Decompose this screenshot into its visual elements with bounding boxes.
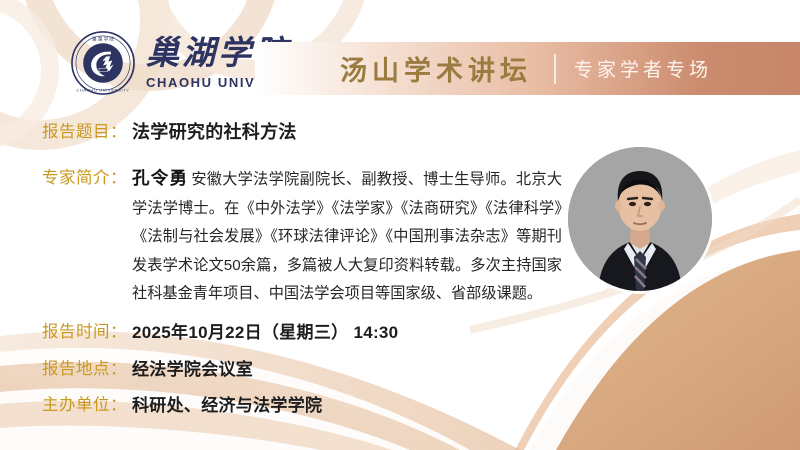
speaker-bio-text: 孔令勇安徽大学法学院副院长、副教授、博士生导师。北京大学法学博士。在《中外法学》… [132,164,562,309]
poster-header: 巢 湖 学 院 CHAOHU UNIVERSITY 巢湖学院 CHAOHU UN… [0,0,800,108]
report-title-label: 报告题目： [42,118,127,142]
speaker-portrait [568,147,712,291]
report-host-label: 主办单位： [42,391,127,415]
svg-text:CHAOHU UNIVERSITY: CHAOHU UNIVERSITY [76,87,129,92]
report-title-row: 报告题目： 法学研究的社科方法 [42,118,297,144]
report-time-row: 报告时间： 2025年10月22日（星期三） 14:30 [42,318,398,343]
chaohu-university-seal-icon: 巢 湖 学 院 CHAOHU UNIVERSITY [70,30,136,96]
report-title-value: 法学研究的社科方法 [132,118,297,144]
svg-text:巢 湖 学 院: 巢 湖 学 院 [92,36,114,43]
speaker-portrait-photo-icon [568,147,712,291]
speaker-bio-row: 专家简介： 孔令勇安徽大学法学院副院长、副教授、博士生导师。北京大学法学博士。在… [42,164,562,309]
speaker-name: 孔令勇 [132,168,188,188]
report-host-value: 科研处、经济与法学学院 [132,391,322,416]
report-place-value: 经法学院会议室 [132,355,253,380]
speaker-bio-paragraph: 安徽大学法学院副院长、副教授、博士生导师。北京大学法学博士。在《中外法学》《法学… [132,171,562,302]
report-time-value: 2025年10月22日（星期三） 14:30 [132,318,398,343]
report-time-label: 报告时间： [42,318,127,342]
series-banner: 汤山学术讲坛 专家学者专场 [255,42,800,95]
speaker-bio-label: 专家简介： [42,164,127,188]
seminar-poster: 巢 湖 学 院 CHAOHU UNIVERSITY 巢湖学院 CHAOHU UN… [0,0,800,450]
banner-divider [554,54,556,84]
report-place-row: 报告地点： 经法学院会议室 [42,355,253,380]
banner-main-title: 汤山学术讲坛 [340,49,532,88]
report-place-label: 报告地点： [42,355,127,379]
report-host-row: 主办单位： 科研处、经济与法学学院 [42,391,322,416]
banner-sub-title: 专家学者专场 [574,55,712,82]
